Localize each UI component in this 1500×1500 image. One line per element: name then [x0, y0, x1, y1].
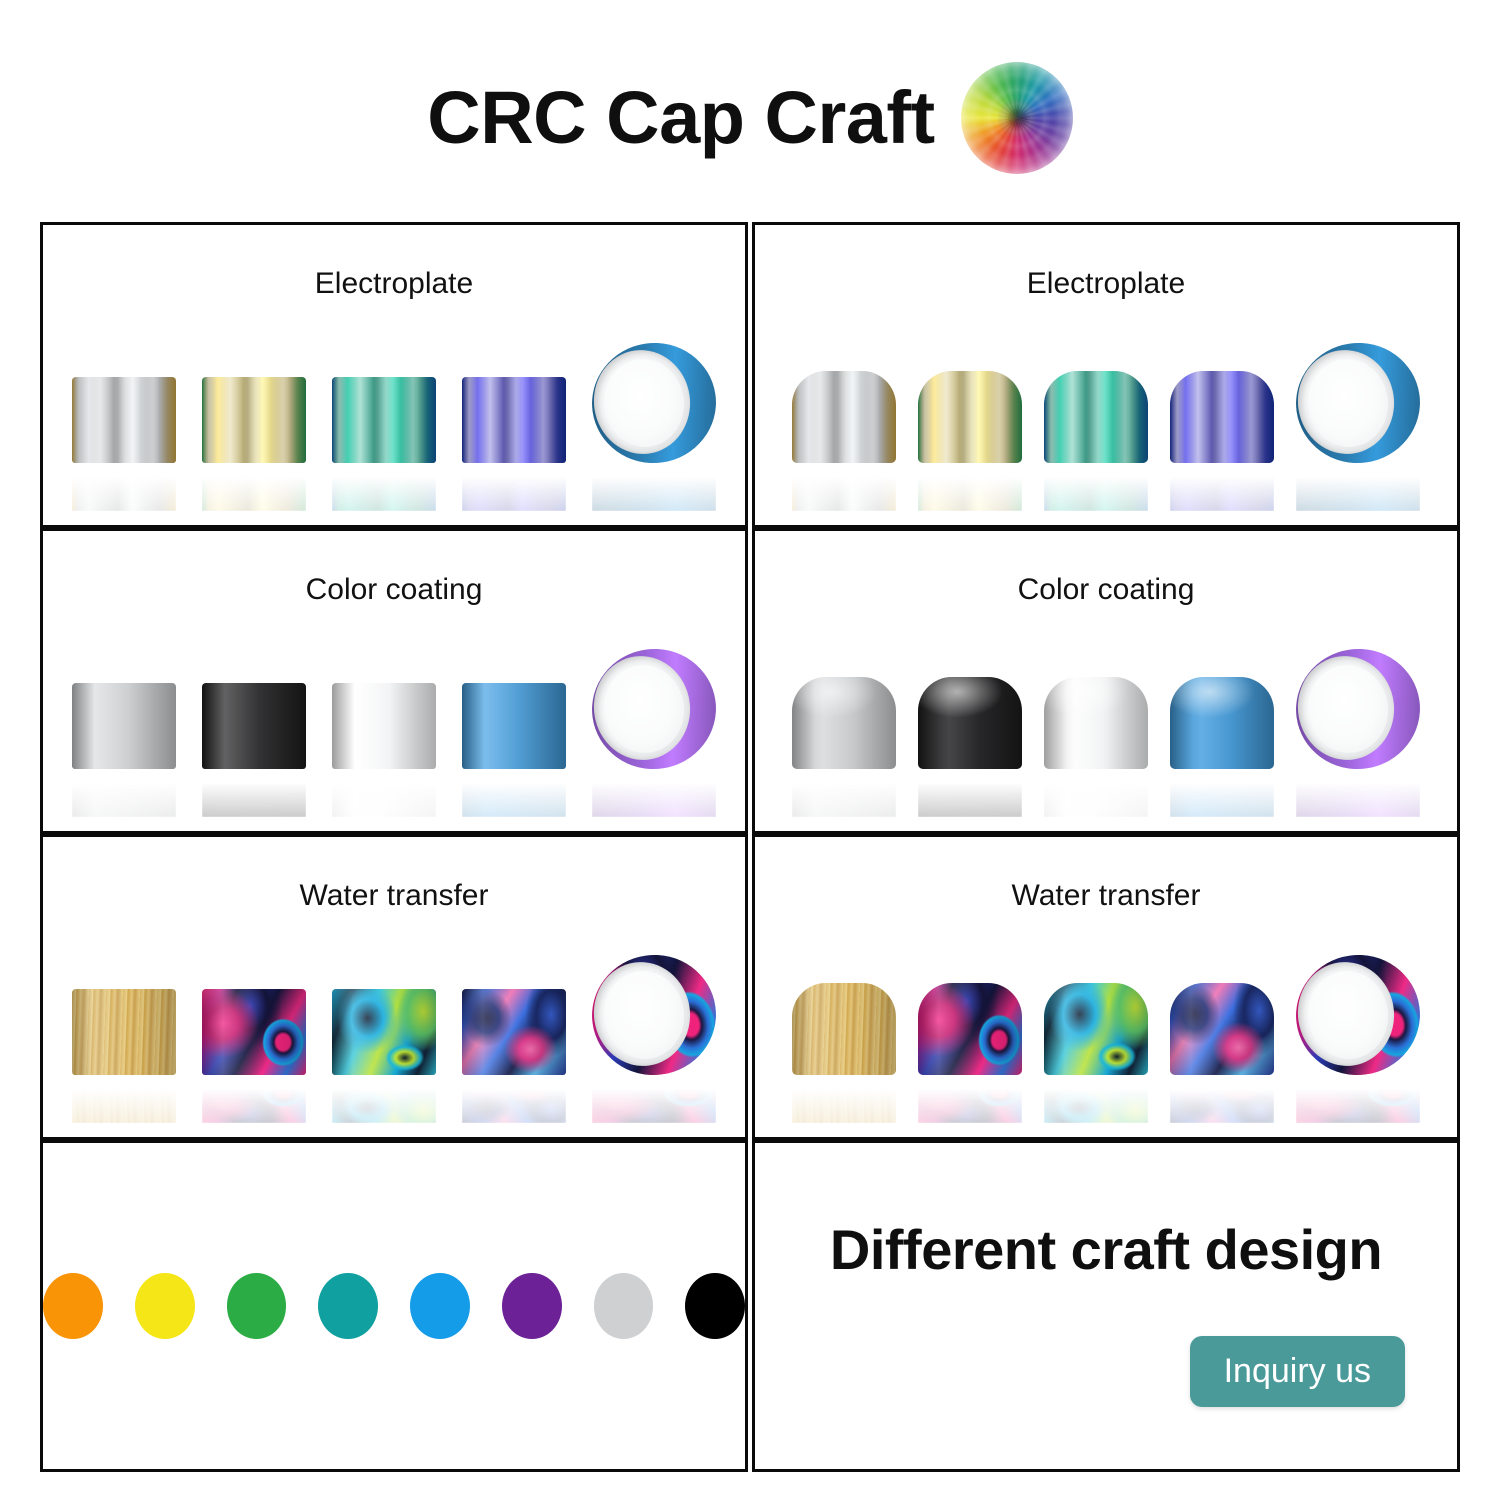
blue-violet-cap — [1170, 371, 1274, 463]
cap-reflection — [462, 463, 566, 511]
cap-reflection — [918, 1075, 1022, 1123]
open-cap-blue-rim — [592, 343, 716, 463]
cap-item — [462, 683, 566, 817]
panel-electroplate-cylinder: Electroplate — [40, 222, 748, 528]
cap-item — [1170, 371, 1274, 511]
cta-heading: Different craft design — [755, 1217, 1457, 1282]
cap-reflection — [202, 1075, 306, 1123]
cap-item — [592, 343, 716, 511]
cap-item — [792, 983, 896, 1123]
cap-item — [592, 955, 716, 1123]
cap-shading — [72, 377, 176, 463]
cap-reflection — [72, 1075, 176, 1123]
cap-reflection — [332, 769, 436, 817]
cyan-lime-swirl-cap — [332, 989, 436, 1075]
wood-grain-cap — [72, 989, 176, 1075]
cap-item — [462, 989, 566, 1123]
color-swatch-row — [43, 1273, 745, 1339]
cap-reflection — [72, 769, 176, 817]
cap-gloss — [792, 677, 896, 769]
cap-item — [1296, 343, 1420, 511]
cap-item — [202, 377, 306, 511]
gold-champagne-cap — [202, 377, 306, 463]
cap-reflection — [462, 769, 566, 817]
cap-reflection — [332, 463, 436, 511]
swatch-teal[interactable] — [318, 1273, 378, 1339]
swatch-light-gray[interactable] — [594, 1273, 654, 1339]
cap-reflection — [918, 769, 1022, 817]
cap-reflection — [592, 1075, 716, 1123]
cap-reflection — [1044, 463, 1148, 511]
navy-pink-swirl-cap — [1170, 983, 1274, 1075]
cap-item — [1296, 649, 1420, 817]
cap-item — [1044, 371, 1148, 511]
cap-gloss — [202, 683, 306, 769]
cap-item — [202, 683, 306, 817]
teal-green-cap — [332, 377, 436, 463]
cap-item — [918, 983, 1022, 1123]
cap-stage — [43, 933, 745, 1123]
panel-label: Color coating — [755, 573, 1457, 607]
swatch-orange[interactable] — [43, 1273, 103, 1339]
open-cap-purple-rim — [1296, 649, 1420, 769]
cap-item — [462, 377, 566, 511]
swatch-purple[interactable] — [502, 1273, 562, 1339]
panel-label: Color coating — [43, 573, 745, 607]
gold-champagne-cap — [918, 371, 1022, 463]
cap-shading — [332, 377, 436, 463]
cap-shading — [202, 377, 306, 463]
cap-shading — [1044, 371, 1148, 463]
craft-grid: Electroplate Electroplate Color coating … — [40, 222, 1460, 1472]
cap-reflection — [1044, 1075, 1148, 1123]
pink-swirl-cap — [918, 983, 1022, 1075]
cap-stage — [755, 627, 1457, 817]
panel-cta: Different craft design Inquiry us — [752, 1140, 1460, 1472]
cap-reflection — [592, 463, 716, 511]
cap-shading — [792, 371, 896, 463]
panel-water-transfer-dome: Water transfer — [752, 834, 1460, 1140]
cap-item — [332, 683, 436, 817]
cap-gloss — [72, 989, 176, 1075]
cap-item — [1044, 677, 1148, 817]
cap-item — [1044, 983, 1148, 1123]
cap-item — [72, 683, 176, 817]
cap-item — [1170, 983, 1274, 1123]
cap-item — [202, 989, 306, 1123]
cap-reflection — [792, 1075, 896, 1123]
cap-reflection — [1170, 463, 1274, 511]
cap-item — [918, 371, 1022, 511]
cap-gloss — [72, 683, 176, 769]
cap-reflection — [1170, 1075, 1274, 1123]
cap-gloss — [1044, 677, 1148, 769]
cap-reflection — [792, 463, 896, 511]
cap-shading — [918, 371, 1022, 463]
product-showcase-page: CRC Cap Craft Electroplate Electroplate … — [0, 0, 1500, 1500]
panel-color-coating-dome: Color coating — [752, 528, 1460, 834]
cap-item — [332, 377, 436, 511]
cap-gloss — [332, 683, 436, 769]
teal-green-cap — [1044, 371, 1148, 463]
cap-item — [592, 649, 716, 817]
cap-stage — [755, 933, 1457, 1123]
cap-item — [72, 989, 176, 1123]
cap-reflection — [72, 463, 176, 511]
panel-label: Electroplate — [43, 267, 745, 301]
cap-stage — [43, 627, 745, 817]
cyan-lime-swirl-cap — [1044, 983, 1148, 1075]
navy-pink-swirl-cap — [462, 989, 566, 1075]
cap-shading — [462, 377, 566, 463]
page-header: CRC Cap Craft — [0, 55, 1500, 180]
panel-label: Water transfer — [755, 879, 1457, 913]
color-wheel-icon — [961, 62, 1073, 174]
cap-gloss — [462, 683, 566, 769]
cap-reflection — [1044, 769, 1148, 817]
cap-gloss — [1170, 677, 1274, 769]
silver-chrome-cap — [792, 371, 896, 463]
panel-water-transfer-cylinder: Water transfer — [40, 834, 748, 1140]
cap-reflection — [202, 463, 306, 511]
open-cap-swirl-rim — [1296, 955, 1420, 1075]
panel-color-coating-cylinder: Color coating — [40, 528, 748, 834]
panel-color-palette — [40, 1140, 748, 1472]
cap-item — [792, 677, 896, 817]
swatch-blue[interactable] — [410, 1273, 470, 1339]
page-title: CRC Cap Craft — [427, 81, 934, 155]
blue-violet-cap — [462, 377, 566, 463]
cap-reflection — [462, 1075, 566, 1123]
cap-item — [1170, 677, 1274, 817]
black-matte-cap — [918, 677, 1022, 769]
cap-gloss — [462, 989, 566, 1075]
pink-swirl-cap — [202, 989, 306, 1075]
cap-gloss — [792, 983, 896, 1075]
white-matte-cap — [332, 683, 436, 769]
cap-reflection — [918, 463, 1022, 511]
silver-matte-cap — [72, 683, 176, 769]
cap-gloss — [918, 677, 1022, 769]
cap-reflection — [1170, 769, 1274, 817]
panel-label: Water transfer — [43, 879, 745, 913]
open-cap-swirl-rim — [592, 955, 716, 1075]
cap-gloss — [918, 983, 1022, 1075]
cap-shading — [1170, 371, 1274, 463]
blue-matte-cap — [462, 683, 566, 769]
cap-reflection — [1296, 463, 1420, 511]
blue-matte-cap — [1170, 677, 1274, 769]
cap-item — [1296, 955, 1420, 1123]
cap-reflection — [792, 769, 896, 817]
wood-grain-cap — [792, 983, 896, 1075]
cap-gloss — [1044, 983, 1148, 1075]
white-matte-cap — [1044, 677, 1148, 769]
open-cap-blue-rim — [1296, 343, 1420, 463]
cap-reflection — [202, 769, 306, 817]
cap-item — [72, 377, 176, 511]
swatch-green[interactable] — [227, 1273, 287, 1339]
cap-reflection — [1296, 769, 1420, 817]
silver-matte-cap — [792, 677, 896, 769]
cap-reflection — [1296, 1075, 1420, 1123]
cap-item — [918, 677, 1022, 817]
cap-stage — [43, 321, 745, 511]
open-cap-purple-rim — [592, 649, 716, 769]
panel-label: Electroplate — [755, 267, 1457, 301]
inquiry-us-button[interactable]: Inquiry us — [1190, 1336, 1405, 1407]
cap-gloss — [1170, 983, 1274, 1075]
panel-electroplate-dome: Electroplate — [752, 222, 1460, 528]
cap-item — [792, 371, 896, 511]
cap-gloss — [202, 989, 306, 1075]
cap-reflection — [332, 1075, 436, 1123]
swatch-black[interactable] — [685, 1273, 745, 1339]
silver-chrome-cap — [72, 377, 176, 463]
color-wheel-rings — [961, 62, 1073, 174]
cap-reflection — [592, 769, 716, 817]
cap-gloss — [332, 989, 436, 1075]
cap-stage — [755, 321, 1457, 511]
cap-item — [332, 989, 436, 1123]
black-matte-cap — [202, 683, 306, 769]
swatch-yellow[interactable] — [135, 1273, 195, 1339]
